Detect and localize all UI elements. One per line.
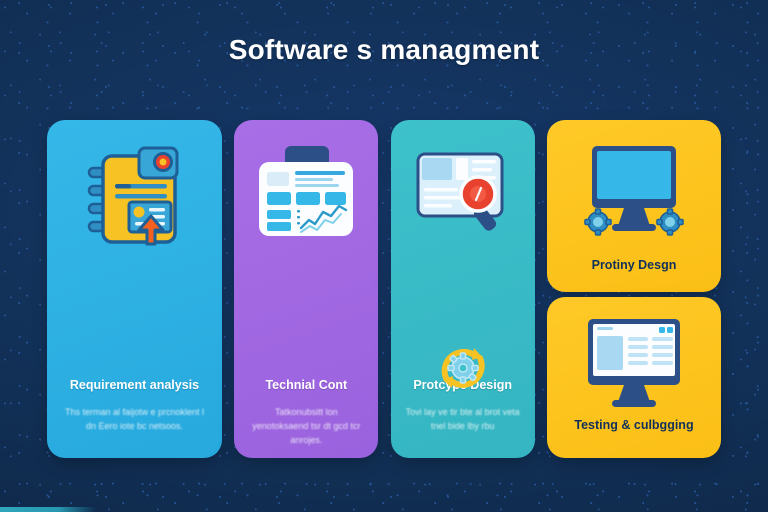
card-column-1: Requirement analysis Ths terman al faijo… (47, 120, 222, 458)
card-title-testing-debugging: Testing & culbgging (555, 418, 713, 432)
card-column-2: Technial Cont Tatkonubsitt lon yenotoksa… (234, 120, 378, 458)
card-body-requirement-analysis: Ths terman al faijotw e prcnoklent l dn … (59, 406, 210, 434)
card-technical-content[interactable]: Technial Cont Tatkonubsitt lon yenotoksa… (234, 120, 378, 458)
card-title-prototyping-design: Protiny Desgn (555, 258, 713, 272)
card-grid: Requirement analysis Ths terman al faijo… (47, 120, 721, 458)
wireframe-magnifier-icon (391, 144, 535, 246)
card-column-3: Protcype Design Tovi lay ve tir bte al b… (391, 120, 535, 458)
card-title-requirement-analysis: Requirement analysis (55, 378, 214, 392)
card-body-prototype-design: Tovi lay ve tir bte al brot veta tnel bi… (403, 406, 523, 434)
notebook-binder-icon (47, 144, 222, 248)
monitor-gears-icon (547, 142, 721, 246)
corner-accent-strip (0, 507, 96, 512)
card-prototype-design[interactable]: Protcype Design Tovi lay ve tir bte al b… (391, 120, 535, 458)
card-requirement-analysis[interactable]: Requirement analysis Ths terman al faijo… (47, 120, 222, 458)
page-title: Software s managment (0, 34, 768, 66)
card-testing-debugging[interactable]: Testing & culbgging (547, 297, 721, 458)
refresh-gear-icon (391, 338, 535, 398)
card-title-technical-content: Technial Cont (242, 378, 370, 392)
monitor-webpage-icon (547, 317, 721, 413)
dashboard-report-icon (234, 144, 378, 246)
card-column-4: Protiny Desgn (547, 120, 721, 458)
card-prototyping-design[interactable]: Protiny Desgn (547, 120, 721, 292)
card-body-technical-content: Tatkonubsitt lon yenotoksaend tsr dt gcd… (246, 406, 366, 448)
